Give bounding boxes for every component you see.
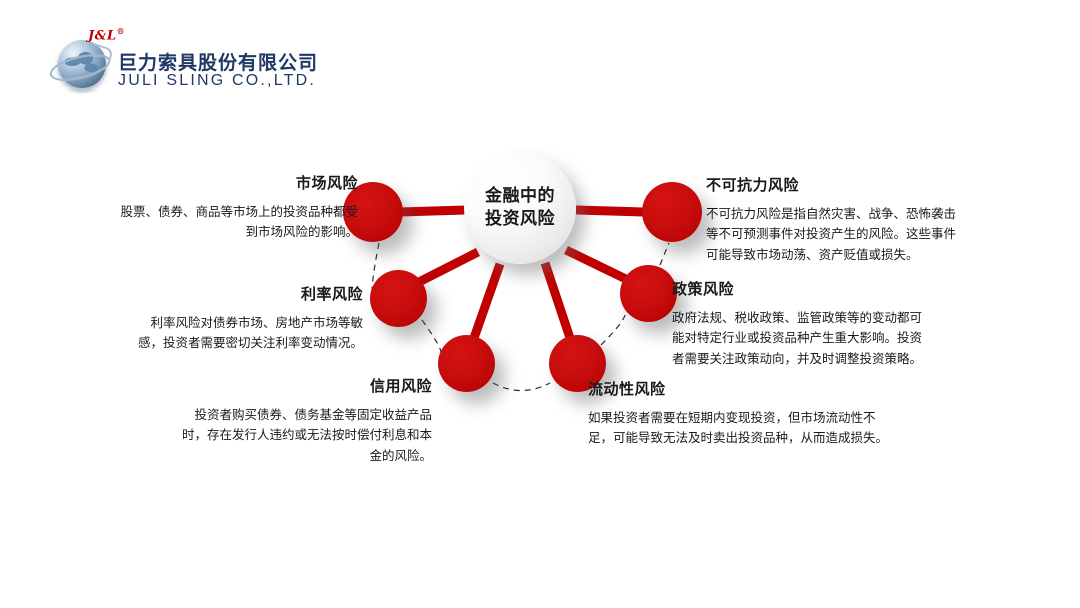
branch-credit-title: 信用风险 (182, 375, 432, 396)
branch-market: 市场风险 股票、债券、商品等市场上的投资品种都受到市场风险的影响。 (118, 172, 358, 243)
branch-credit-body: 投资者购买债券、债务基金等固定收益产品时，存在发行人违约或无法按时偿付利息和本金… (182, 405, 432, 466)
branch-market-body: 股票、债券、商品等市场上的投资品种都受到市场风险的影响。 (118, 202, 358, 243)
node-force[interactable] (642, 182, 702, 242)
spoke-policy (566, 250, 630, 281)
branch-credit: 信用风险 投资者购买债券、债务基金等固定收益产品时，存在发行人违约或无法按时偿付… (182, 375, 432, 466)
branch-policy-body: 政府法规、税收政策、监管政策等的变动都可能对特定行业或投资品种产生重大影响。投资… (672, 308, 934, 369)
spoke-rate (415, 252, 478, 284)
arc-credit-liquidity (493, 383, 550, 391)
spoke-liquidity (545, 263, 570, 338)
branch-liquidity-title: 流动性风险 (588, 378, 893, 399)
hub-label-line2: 投资风险 (485, 208, 555, 231)
branch-rate-title: 利率风险 (128, 283, 363, 304)
branch-rate-body: 利率风险对债券市场、房地产市场等敏感，投资者需要密切关注利率变动情况。 (128, 313, 363, 354)
spoke-market (400, 210, 466, 212)
node-credit[interactable] (438, 335, 495, 392)
hub-label: 金融中的 投资风险 (485, 185, 555, 231)
node-rate[interactable] (370, 270, 427, 327)
risk-diagram: 金融中的 投资风险 市场风险 股票、债券、商品等市场上的投资品种都受到市场风险的… (0, 0, 1080, 608)
hub-label-line1: 金融中的 (485, 185, 555, 208)
arc-liquidity-policy (601, 315, 625, 345)
branch-force-title: 不可抗力风险 (706, 174, 964, 195)
arc-rate-credit (422, 320, 441, 352)
branch-policy: 政策风险 政府法规、税收政策、监管政策等的变动都可能对特定行业或投资品种产生重大… (672, 278, 934, 369)
hub-circle[interactable]: 金融中的 投资风险 (464, 152, 576, 264)
arc-policy-force (660, 243, 669, 265)
branch-rate: 利率风险 利率风险对债券市场、房地产市场等敏感，投资者需要密切关注利率变动情况。 (128, 283, 363, 354)
branch-force: 不可抗力风险 不可抗力风险是指自然灾害、战争、恐怖袭击等不可预测事件对投资产生的… (706, 174, 964, 265)
spoke-force (576, 210, 643, 212)
node-policy[interactable] (620, 265, 677, 322)
branch-liquidity-body: 如果投资者需要在短期内变现投资，但市场流动性不足，可能导致无法及时卖出投资品种，… (588, 408, 893, 449)
branch-force-body: 不可抗力风险是指自然灾害、战争、恐怖袭击等不可预测事件对投资产生的风险。这些事件… (706, 204, 964, 265)
branch-market-title: 市场风险 (118, 172, 358, 193)
branch-policy-title: 政策风险 (672, 278, 934, 299)
branch-liquidity: 流动性风险 如果投资者需要在短期内变现投资，但市场流动性不足，可能导致无法及时卖… (588, 378, 893, 449)
spoke-credit (474, 264, 500, 338)
